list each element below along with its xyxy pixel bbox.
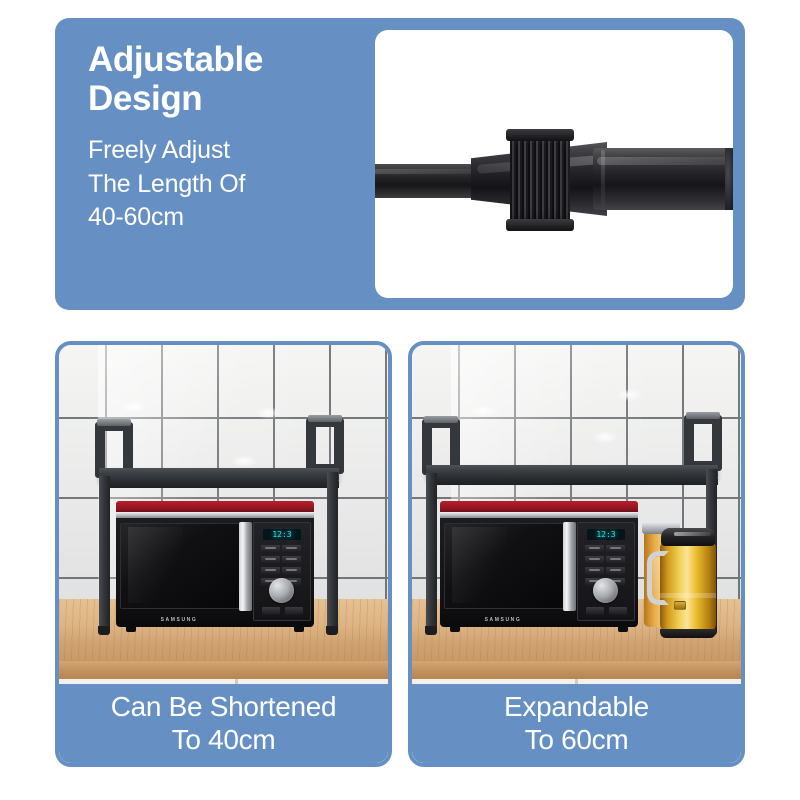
microwave-door[interactable]: [444, 523, 566, 609]
rack-left-leg: [99, 476, 110, 629]
keypad-button[interactable]: [606, 567, 625, 575]
rack-shelf-surface: [99, 468, 339, 481]
microwave-stop-button[interactable]: [586, 607, 604, 615]
rack-right-upright-frame: [306, 418, 344, 474]
microwave-body: 12:3: [116, 518, 314, 627]
panel-shortened: 12:3: [55, 341, 392, 767]
microwave-stop-button[interactable]: [262, 607, 280, 615]
panel-expanded: 12:3: [408, 341, 745, 767]
telescoping-rod-illustration: [375, 30, 733, 298]
microwave-start-button[interactable]: [285, 607, 303, 615]
microwave-start-button[interactable]: [609, 607, 627, 615]
microwave-dial-knob[interactable]: [269, 578, 294, 603]
rack-right-post-cap: [308, 415, 342, 422]
microwave-door[interactable]: [120, 523, 242, 609]
keypad-button[interactable]: [282, 556, 301, 564]
microwave-led-display: 12:3: [587, 529, 625, 540]
infographic-canvas: Adjustable Design Freely Adjust The Leng…: [0, 0, 800, 800]
microwave-control-panel[interactable]: 12:3: [577, 522, 635, 621]
keypad-button[interactable]: [585, 545, 604, 553]
rack-right-upright-frame: [684, 415, 722, 471]
microwave-foot: [126, 626, 136, 632]
microwave-dial-knob[interactable]: [593, 578, 618, 603]
microwave-brand-logo: SAMSUNG: [440, 617, 566, 623]
rod-adjustment-collar-icon: [510, 134, 570, 226]
microwave-foot: [450, 626, 460, 632]
microwave-foot: [618, 626, 628, 632]
rack-left-post-cap: [424, 416, 458, 423]
keypad-button[interactable]: [606, 556, 625, 564]
rack-shelf-front-edge: [426, 478, 718, 485]
rack-right-leg: [327, 472, 338, 629]
rod-outer-tube-icon: [593, 148, 733, 210]
keypad-button[interactable]: [606, 545, 625, 553]
door-glass-reflection: [128, 527, 183, 603]
microwave-red-top-trim: [116, 501, 314, 512]
microwave-door-handle[interactable]: [239, 522, 252, 611]
page-title: Adjustable Design: [88, 40, 368, 118]
rack-left-post-cap: [97, 419, 131, 426]
keypad-button[interactable]: [282, 567, 301, 575]
hero-text-block: Adjustable Design Freely Adjust The Leng…: [88, 40, 368, 235]
panel-caption-shortened: Can Be Shortened To 40cm: [59, 684, 388, 763]
panel-caption-expanded: Expandable To 60cm: [412, 684, 741, 763]
keypad-button[interactable]: [261, 545, 280, 553]
rod-photo-card: [375, 30, 733, 298]
hero-subtitle: Freely Adjust The Length Of 40-60cm: [88, 134, 368, 235]
microwave-door-handle[interactable]: [563, 522, 576, 611]
microwave-oven: 12:3: [116, 501, 314, 627]
keypad-button[interactable]: [585, 556, 604, 564]
rack-right-post-cap: [686, 412, 720, 419]
microwave-foot: [294, 626, 304, 632]
gold-thermos-flask: [660, 541, 716, 633]
rod-overlap-seam-icon: [601, 150, 605, 208]
keypad-button[interactable]: [261, 556, 280, 564]
rack-left-foot: [98, 626, 110, 635]
microwave-led-display: 12:3: [263, 529, 301, 540]
thermos-highlight-band: [660, 593, 716, 598]
thermos-base: [660, 629, 716, 638]
microwave-oven: 12:3: [440, 501, 638, 627]
rack-left-foot: [425, 626, 437, 635]
rack-shelf-surface: [426, 465, 718, 478]
microwave-body: 12:3: [440, 518, 638, 627]
door-glass-reflection: [452, 527, 507, 603]
thermos-black-lid: [661, 528, 715, 546]
rack-shelf-front-edge: [99, 481, 339, 488]
keypad-button[interactable]: [585, 567, 604, 575]
microwave-red-top-trim: [440, 501, 638, 512]
thermos-pour-button[interactable]: [674, 601, 686, 610]
microwave-control-panel[interactable]: 12:3: [253, 522, 311, 621]
keypad-button[interactable]: [282, 545, 301, 553]
microwave-brand-logo: SAMSUNG: [116, 617, 242, 623]
rod-end-cap-icon: [725, 148, 733, 210]
hero-panel: Adjustable Design Freely Adjust The Leng…: [55, 18, 745, 310]
rack-right-foot: [326, 626, 338, 635]
rack-left-leg: [426, 473, 437, 629]
keypad-button[interactable]: [261, 567, 280, 575]
